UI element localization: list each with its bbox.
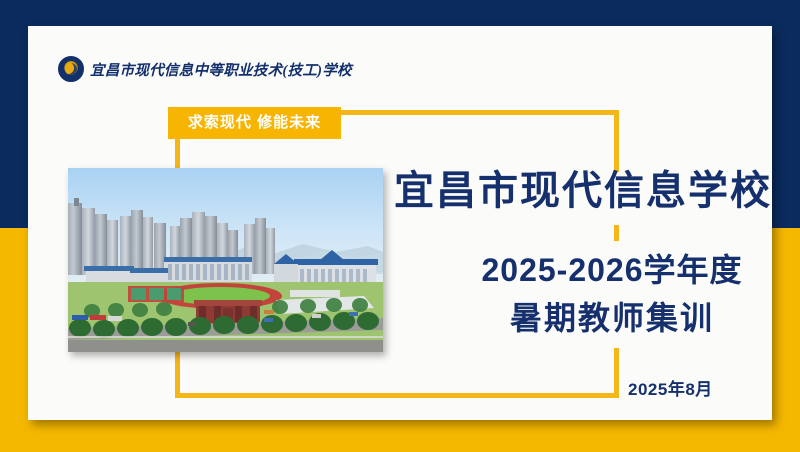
school-motto-banner: 求索现代 修能未来 [168, 107, 341, 139]
school-logo-row: 宜昌市现代信息中等职业技术(技工)学校 [58, 56, 352, 82]
subtitle-academic-year: 2025-2026学年度 [442, 254, 782, 286]
campus-aerial-photo [68, 168, 383, 352]
frame-bottom-edge [175, 393, 619, 398]
frame-right-segment-middle [614, 225, 619, 241]
school-full-name: 宜昌市现代信息中等职业技术(技工)学校 [90, 59, 352, 80]
presentation-slide: 宜昌市现代信息中等职业技术(技工)学校 求索现代 修能未来 [0, 0, 800, 452]
slide-card: 宜昌市现代信息中等职业技术(技工)学校 求索现代 修能未来 [28, 26, 772, 420]
subtitle-event-name: 暑期教师集训 [442, 302, 782, 334]
school-crest-icon [58, 56, 84, 82]
frame-right-segment-bottom [614, 348, 619, 398]
frame-right-segment-top [614, 110, 619, 172]
date-label: 2025年8月 [628, 375, 713, 400]
page-title: 宜昌市现代信息学校 [394, 171, 800, 211]
